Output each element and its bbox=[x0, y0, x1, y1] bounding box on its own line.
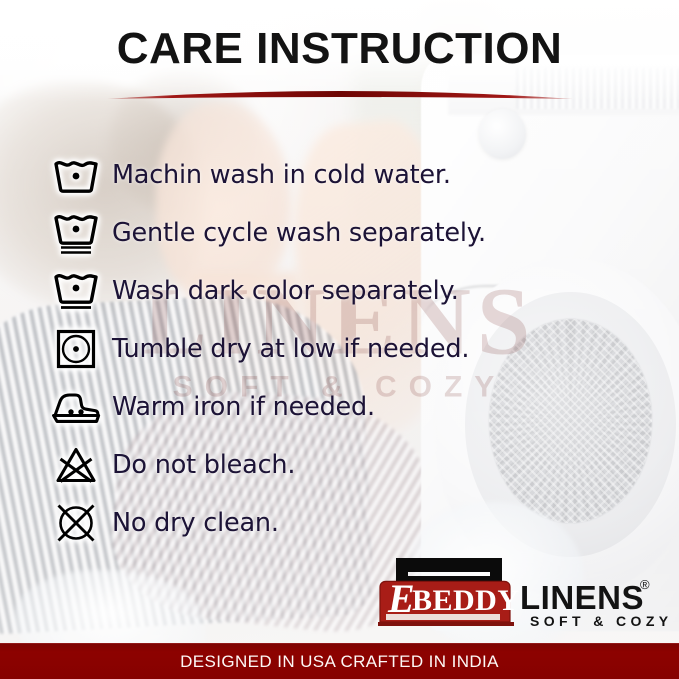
do-not-dry-clean-circle-x-icon bbox=[40, 502, 112, 544]
instruction-row: Machin wash in cold water. bbox=[40, 146, 640, 204]
page-title: CARE INSTRUCTION bbox=[0, 24, 679, 74]
instruction-row: Tumble dry at low if needed. bbox=[40, 320, 640, 378]
wash-tub-one-dot-one-bar-icon bbox=[40, 270, 112, 312]
instruction-text: Tumble dry at low if needed. bbox=[112, 334, 469, 364]
registered-trademark-icon: ® bbox=[640, 577, 650, 592]
instruction-row: Warm iron if needed. bbox=[40, 378, 640, 436]
bottom-banner: DESIGNED IN USA CRAFTED IN INDIA bbox=[0, 643, 679, 679]
title-divider bbox=[105, 86, 575, 104]
instruction-list: Machin wash in cold water. Gentle cycle … bbox=[40, 146, 640, 552]
instruction-text: Wash dark color separately. bbox=[112, 276, 459, 306]
iron-two-dots-icon bbox=[40, 390, 112, 424]
wash-tub-one-dot-two-bars-icon bbox=[40, 211, 112, 255]
instruction-row: Gentle cycle wash separately. bbox=[40, 204, 640, 262]
logo-script-initial: E bbox=[387, 576, 415, 621]
wash-tub-one-dot-icon bbox=[40, 157, 112, 193]
banner-text: DESIGNED IN USA CRAFTED IN INDIA bbox=[180, 652, 499, 672]
instruction-text: Warm iron if needed. bbox=[112, 392, 375, 422]
instruction-row: Do not bleach. bbox=[40, 436, 640, 494]
do-not-bleach-triangle-x-icon bbox=[40, 446, 112, 484]
care-instruction-graphic: LINENS SOFT & COZY CARE INSTRUCTION bbox=[0, 0, 679, 679]
logo-second-word: LINENS bbox=[520, 579, 644, 616]
instruction-row: Wash dark color separately. bbox=[40, 262, 640, 320]
instruction-text: Gentle cycle wash separately. bbox=[112, 218, 486, 248]
logo-tagline: SOFT & COZY bbox=[530, 613, 668, 629]
instruction-row: No dry clean. bbox=[40, 494, 640, 552]
instruction-text: Do not bleach. bbox=[112, 450, 295, 480]
tumble-dry-low-icon bbox=[40, 329, 112, 369]
brand-logo: E BEDDY LINENS ® SOFT & COZY bbox=[378, 558, 668, 640]
logo-brand-word: BEDDY bbox=[412, 584, 520, 617]
instruction-text: Machin wash in cold water. bbox=[112, 160, 451, 190]
instruction-text: No dry clean. bbox=[112, 508, 279, 538]
